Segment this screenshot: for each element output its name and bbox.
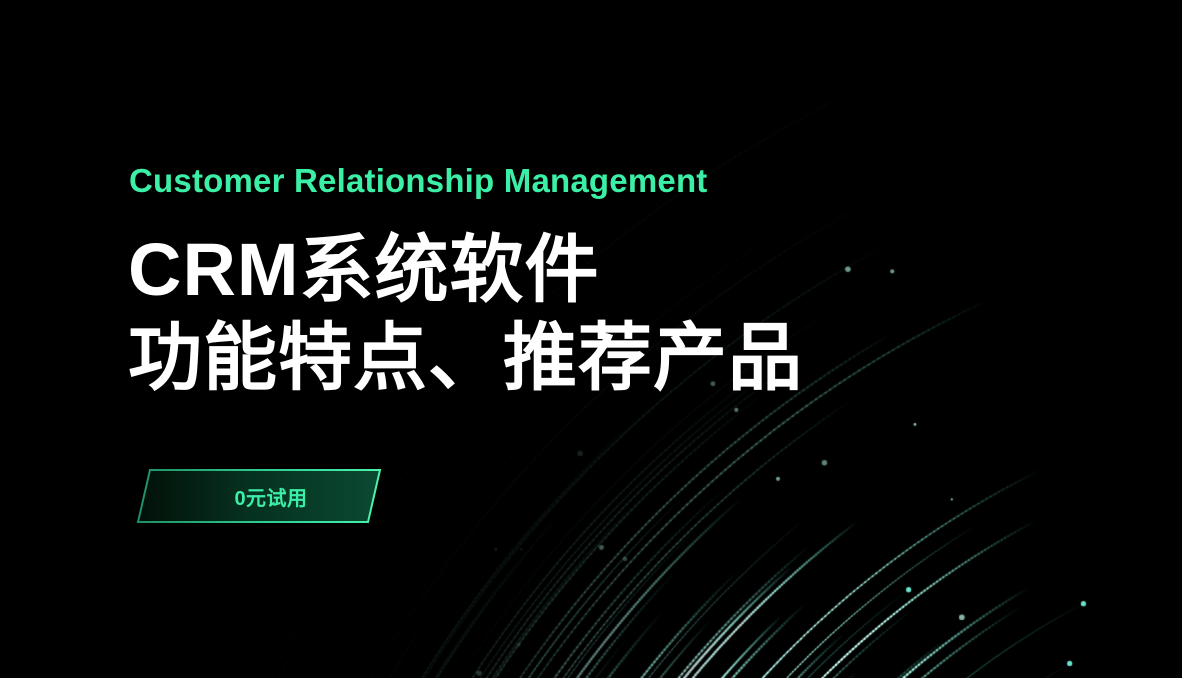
cta-parallelogram-shape <box>138 468 390 524</box>
hero-eyebrow: Customer Relationship Management <box>129 162 708 200</box>
page-title-line-1: CRM系统软件 <box>128 226 888 314</box>
poster-root: Customer Relationship Management CRM系统软件… <box>0 0 1182 678</box>
hero-content: Customer Relationship Management CRM系统软件… <box>0 0 1182 678</box>
page-title: CRM系统软件 功能特点、推荐产品 <box>128 226 888 402</box>
page-title-line-2: 功能特点、推荐产品 <box>128 314 888 402</box>
free-trial-button[interactable]: 0元试用 <box>138 468 390 524</box>
